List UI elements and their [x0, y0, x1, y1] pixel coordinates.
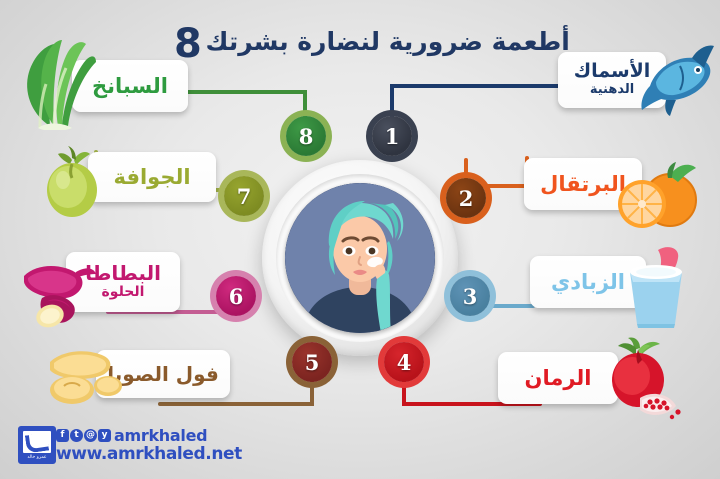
item-3-label-line1: الزبادي [551, 271, 625, 293]
badge-4[interactable]: 4 [384, 342, 424, 382]
badge-2[interactable]: 2 [446, 178, 486, 218]
badge-4-number: 4 [397, 350, 412, 375]
footer-branding: عمرو خالد f t @ y amrkhaled www.amrkhale… [18, 424, 248, 472]
amrkhaled-logo-icon: عمرو خالد [18, 426, 56, 464]
youtube-icon[interactable]: y [98, 429, 111, 442]
pomegranate-icon [596, 336, 684, 426]
item-6-label-line1: البطاطا [85, 263, 161, 284]
badge-1[interactable]: 1 [372, 116, 412, 156]
badge-8-number: 8 [299, 124, 314, 149]
center-wheel-inner-ring [276, 174, 444, 342]
logo-caption: عمرو خالد [22, 454, 52, 461]
badge-6[interactable]: 6 [216, 276, 256, 316]
item-6-label-line2: الحلوة [102, 285, 145, 300]
badge-6-number: 6 [229, 284, 244, 309]
woman-skincare-illustration [285, 183, 435, 333]
badge-2-number: 2 [459, 186, 474, 211]
guava-icon [38, 146, 108, 224]
item-7-label-line1: الجوافة [113, 166, 190, 188]
badge-1-number: 1 [385, 124, 400, 149]
badge-7-number: 7 [237, 184, 252, 209]
center-wheel [262, 160, 458, 356]
badge-3[interactable]: 3 [450, 276, 490, 316]
facebook-icon[interactable]: f [56, 429, 69, 442]
twitter-icon[interactable]: t [70, 429, 83, 442]
orange-icon [612, 160, 700, 236]
badge-5[interactable]: 5 [292, 342, 332, 382]
badge-7[interactable]: 7 [224, 176, 264, 216]
infographic-canvas: أطعمة ضرورية لنضارة بشرتك 8 [0, 0, 720, 479]
yogurt-cup-icon [620, 242, 696, 332]
sweet-potato-icon [16, 258, 96, 338]
badge-3-number: 3 [463, 284, 478, 309]
item-4-label-line1: الرمان [525, 367, 592, 389]
website-url[interactable]: www.amrkhaled.net [56, 444, 242, 464]
connector-1 [392, 86, 560, 124]
social-icons-row[interactable]: f t @ y amrkhaled [56, 426, 207, 445]
item-8-label-line1: السبانخ [92, 75, 168, 97]
fish-icon [636, 40, 716, 120]
soybean-icon [42, 342, 132, 410]
instagram-icon[interactable]: @ [84, 429, 97, 442]
badge-8[interactable]: 8 [286, 116, 326, 156]
social-handle[interactable]: amrkhaled [114, 426, 207, 445]
item-1-label-line2: الدهنية [590, 83, 634, 97]
spinach-icon [10, 36, 96, 134]
badge-5-number: 5 [305, 350, 320, 375]
